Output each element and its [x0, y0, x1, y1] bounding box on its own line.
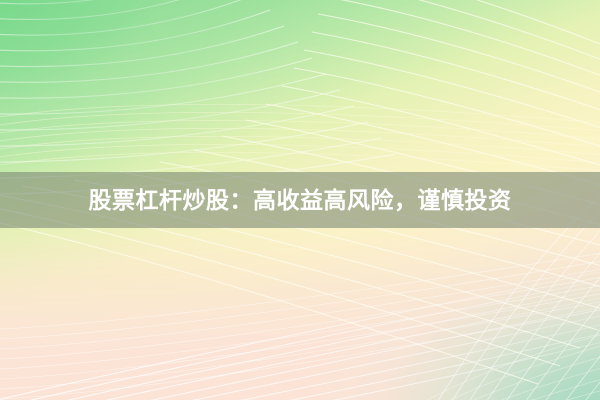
banner-image: 股票杠杆炒股：高收益高风险，谨慎投资 [0, 0, 600, 400]
caption-text: 股票杠杆炒股：高收益高风险，谨慎投资 [89, 189, 512, 212]
caption-band: 股票杠杆炒股：高收益高风险，谨慎投资 [0, 172, 600, 228]
